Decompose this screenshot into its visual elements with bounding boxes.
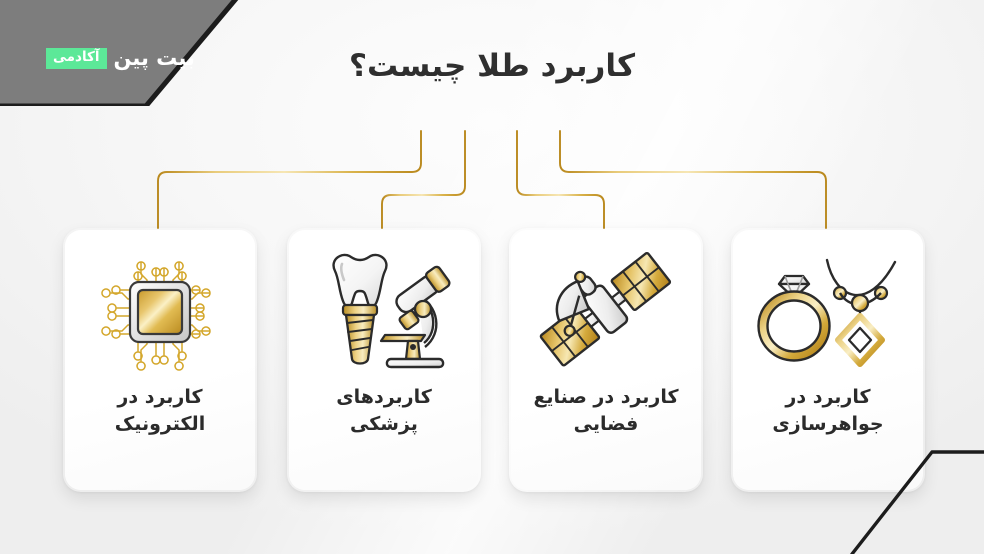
card-label: کاربرد در الکترونیک: [65, 384, 255, 438]
card-electronics[interactable]: کاربرد در الکترونیک: [63, 228, 257, 492]
ring-necklace-icon: [733, 230, 923, 380]
card-label: کاربرد در جواهرسازی: [733, 384, 923, 438]
card-jewelry[interactable]: کاربرد در جواهرسازی: [731, 228, 925, 492]
card-aerospace[interactable]: کاربرد در صنایع فضایی: [509, 228, 703, 492]
page-title: کاربرد طلا چیست؟: [0, 48, 984, 84]
microchip-icon: [65, 230, 255, 380]
card-medical[interactable]: کاربردهای پزشکی: [287, 228, 481, 492]
card-label: کاربرد در صنایع فضایی: [511, 384, 701, 438]
dental-implant-microscope-icon: [289, 230, 479, 380]
card-label: کاربردهای پزشکی: [289, 384, 479, 438]
satellite-icon: [511, 230, 701, 380]
infographic-stage: بیت پین آکادمی کاربرد طلا چیست؟: [0, 0, 984, 554]
